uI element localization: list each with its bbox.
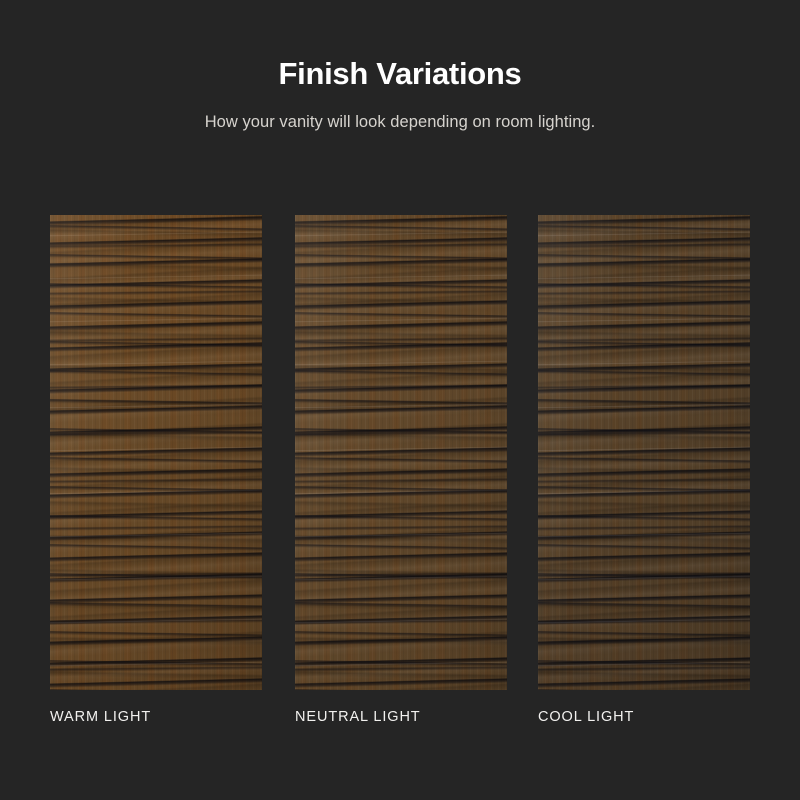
finish-variations-graphic: Finish Variations How your vanity will l… (0, 0, 800, 800)
swatch-warm-light (50, 215, 262, 690)
swatch-label-cool-light: COOL LIGHT (538, 707, 768, 727)
swatch-row (50, 215, 750, 690)
page-subtitle: How your vanity will look depending on r… (0, 110, 800, 134)
label-row: WARM LIGHT NEUTRAL LIGHT COOL LIGHT (50, 707, 750, 737)
swatch-label-neutral-light: NEUTRAL LIGHT (295, 707, 525, 727)
wood-vignette (295, 215, 507, 690)
wood-vignette (538, 215, 750, 690)
swatch-cool-light (538, 215, 750, 690)
swatch-neutral-light (295, 215, 507, 690)
wood-vignette (50, 215, 262, 690)
swatch-label-warm-light: WARM LIGHT (50, 707, 280, 727)
page-title: Finish Variations (0, 55, 800, 93)
